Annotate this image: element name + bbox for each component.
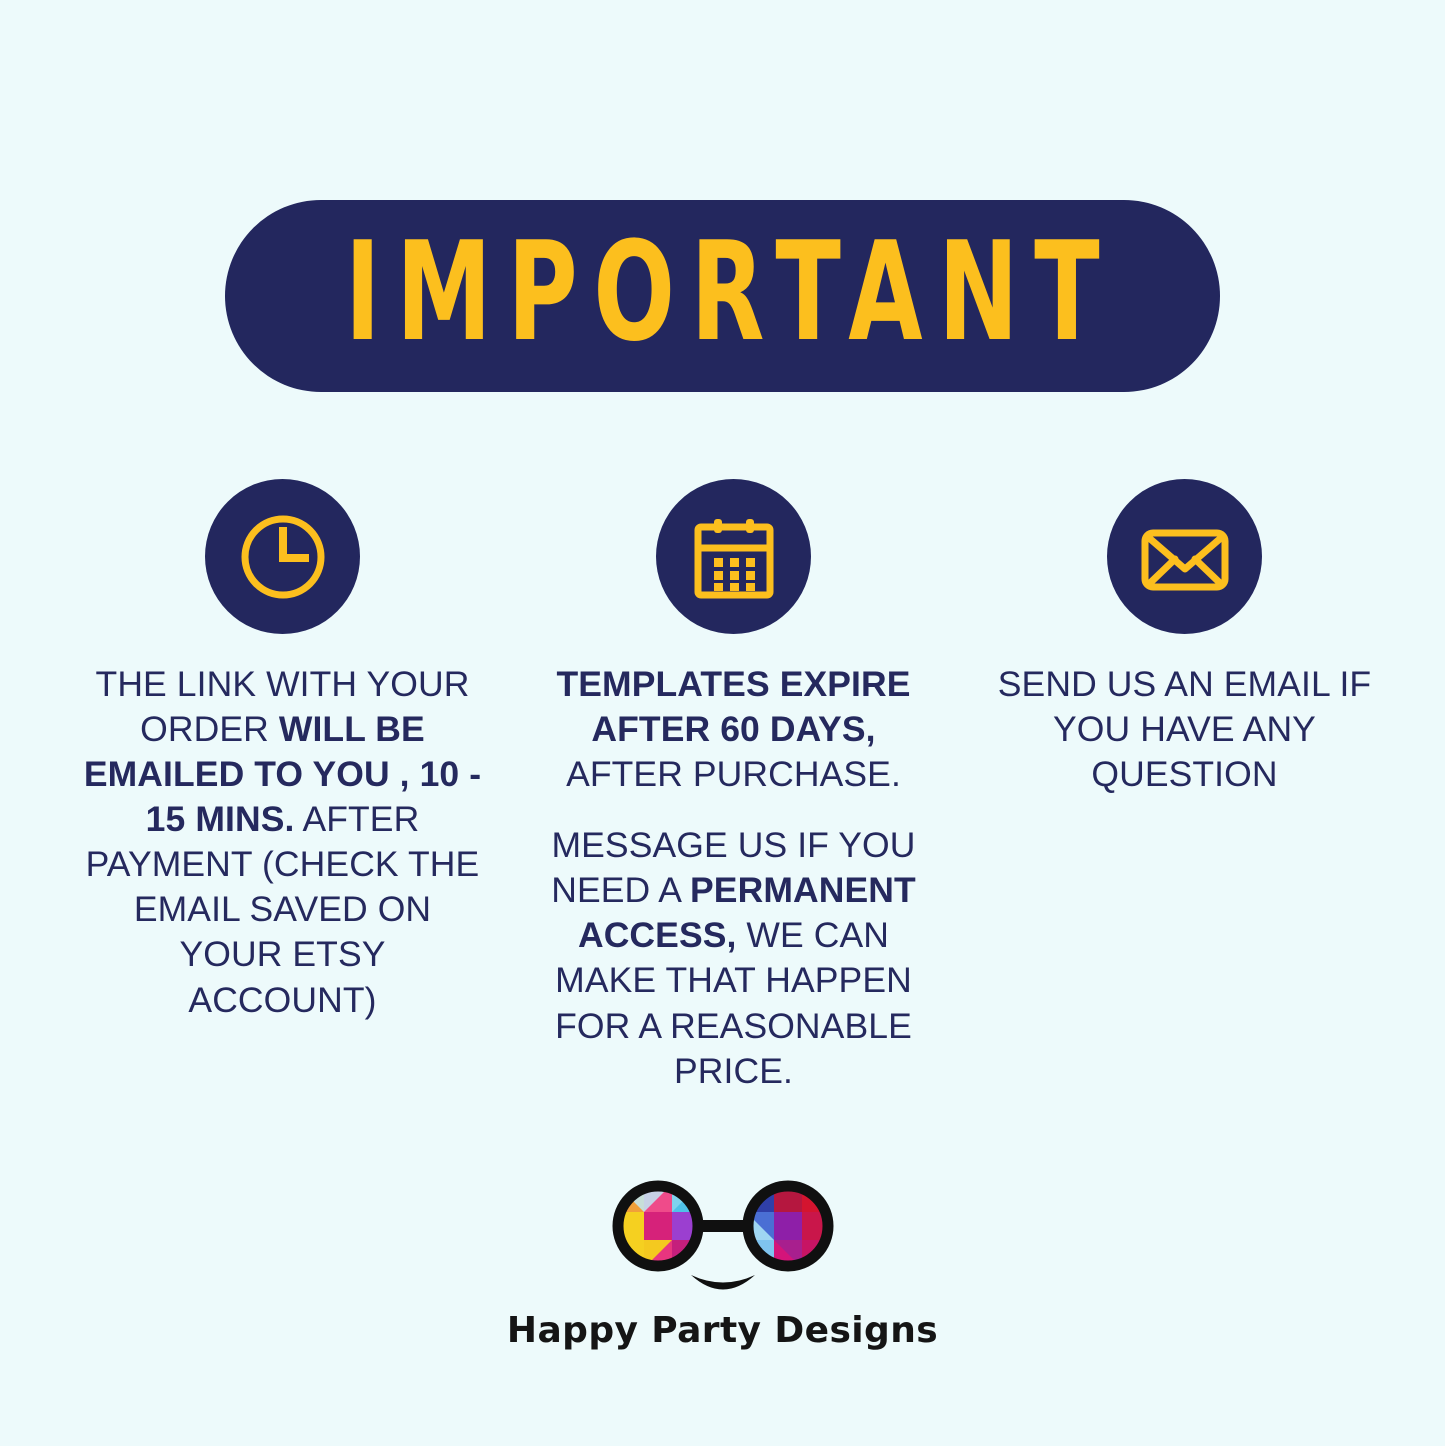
body-text: SEND US AN EMAIL IF YOU HAVE ANY QUESTIO… — [998, 664, 1371, 794]
brand-logo: Happy Party Designs — [0, 1178, 1445, 1351]
info-column-contact: SEND US AN EMAIL IF YOU HAVE ANY QUESTIO… — [959, 479, 1410, 1094]
calendar-icon-badge — [656, 479, 811, 634]
envelope-icon-badge — [1107, 479, 1262, 634]
info-column-expiry: TEMPLATES EXPIRE AFTER 60 DAYS, AFTER PU… — [508, 479, 959, 1094]
info-columns: THE LINK WITH YOUR ORDER WILL BE EMAILED… — [0, 479, 1445, 1094]
envelope-icon — [1137, 509, 1233, 605]
paragraph: MESSAGE US IF YOU NEED A PERMANENT ACCES… — [548, 823, 920, 1093]
smiling-glasses-logo-icon — [588, 1178, 858, 1298]
info-column-delivery: THE LINK WITH YOUR ORDER WILL BE EMAILED… — [57, 479, 508, 1094]
brand-name: Happy Party Designs — [507, 1310, 938, 1351]
calendar-icon — [688, 511, 780, 603]
paragraph: TEMPLATES EXPIRE AFTER 60 DAYS, AFTER PU… — [548, 662, 920, 797]
banner-pill: IMPORTANT — [225, 200, 1220, 392]
important-banner: IMPORTANT — [0, 200, 1445, 392]
body-text: AFTER PURCHASE. — [566, 754, 901, 794]
info-column-expiry-text: TEMPLATES EXPIRE AFTER 60 DAYS, AFTER PU… — [544, 662, 924, 1094]
info-column-contact-text: SEND US AN EMAIL IF YOU HAVE ANY QUESTIO… — [981, 662, 1389, 797]
paragraph: THE LINK WITH YOUR ORDER WILL BE EMAILED… — [83, 662, 483, 1023]
paragraph: SEND US AN EMAIL IF YOU HAVE ANY QUESTIO… — [985, 662, 1385, 797]
clock-icon-badge — [205, 479, 360, 634]
info-column-delivery-text: THE LINK WITH YOUR ORDER WILL BE EMAILED… — [79, 662, 487, 1023]
page-title: IMPORTANT — [329, 225, 1115, 362]
emphasis-text: TEMPLATES EXPIRE AFTER 60 DAYS, — [556, 664, 910, 749]
clock-icon — [235, 509, 331, 605]
